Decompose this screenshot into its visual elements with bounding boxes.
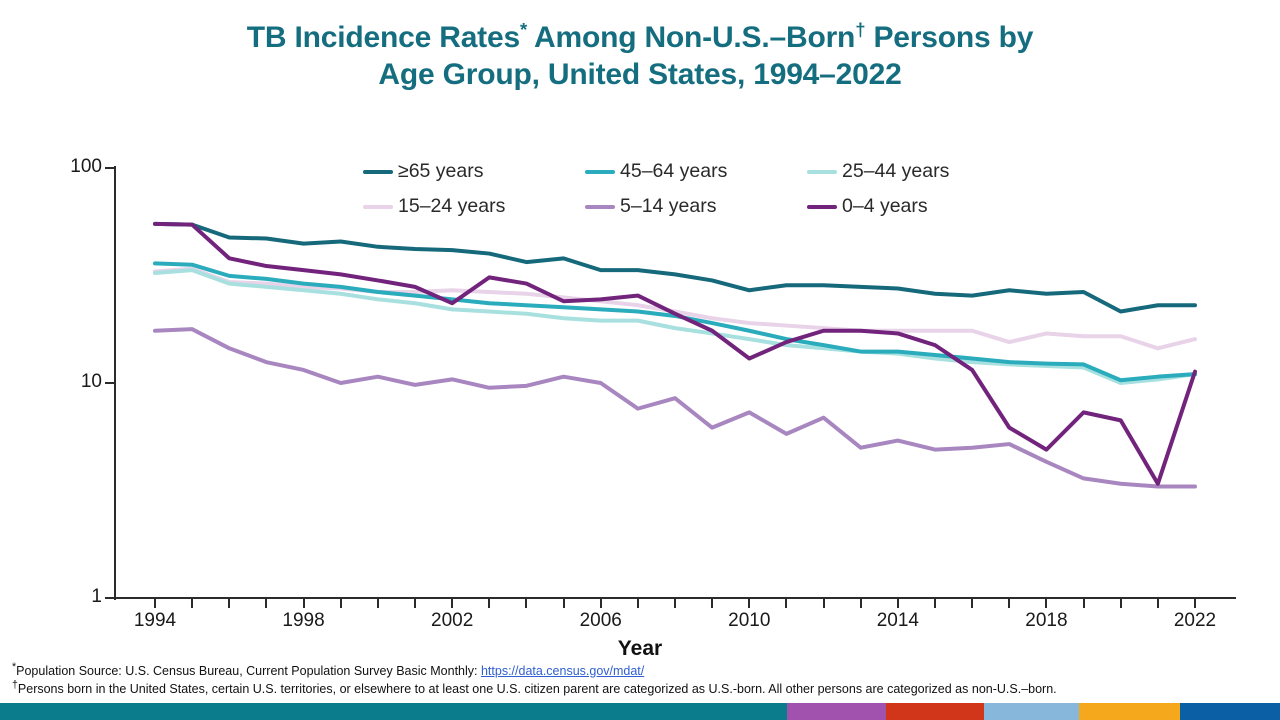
x-axis-tick — [154, 599, 156, 608]
x-axis-tick-label: 1994 — [115, 610, 195, 632]
title-dagger-marker: † — [855, 19, 865, 40]
y-axis-tick — [105, 597, 115, 599]
y-axis-tick — [105, 167, 115, 169]
x-axis-tick — [897, 599, 899, 608]
series-line-2 — [155, 263, 1195, 380]
x-axis-tick — [1120, 599, 1122, 608]
x-axis-tick — [525, 599, 527, 608]
x-axis-tick — [265, 599, 267, 608]
x-axis-tick — [488, 599, 490, 608]
x-axis-tick — [600, 599, 602, 608]
x-axis-title: Year — [0, 637, 1280, 661]
x-axis-tick — [451, 599, 453, 608]
footnote-1-text: Population Source: U.S. Census Bureau, C… — [16, 664, 481, 678]
y-axis-tick-label: 1 — [42, 586, 102, 608]
x-axis-tick — [563, 599, 565, 608]
x-axis-tick — [1045, 599, 1047, 608]
x-axis-tick-label: 2014 — [858, 610, 938, 632]
x-axis-tick — [1157, 599, 1159, 608]
footnotes: *Population Source: U.S. Census Bureau, … — [12, 662, 1272, 698]
x-axis-tick-label: 2022 — [1155, 610, 1235, 632]
page-title: TB Incidence Rates* Among Non-U.S.–Born†… — [0, 20, 1280, 93]
bottom-color-bar — [0, 703, 1280, 720]
title-line-1-mid: Among Non-U.S.–Born — [527, 21, 855, 54]
bottom-bar-segment-5 — [1079, 703, 1181, 720]
x-axis-tick — [823, 599, 825, 608]
x-axis-tick — [748, 599, 750, 608]
x-axis-tick — [674, 599, 676, 608]
x-axis-tick-label: 1998 — [264, 610, 344, 632]
title-asterisk-marker: * — [520, 19, 527, 40]
x-axis-tick-label: 2006 — [561, 610, 641, 632]
bottom-bar-segment-1 — [0, 703, 787, 720]
census-mdat-link[interactable]: https://data.census.gov/mdat/ — [481, 664, 644, 678]
series-line-4 — [155, 269, 1195, 349]
slide-page: TB Incidence Rates* Among Non-U.S.–Born†… — [0, 0, 1280, 720]
x-axis-tick — [971, 599, 973, 608]
x-axis-tick — [377, 599, 379, 608]
footnote-population-source: *Population Source: U.S. Census Bureau, … — [12, 662, 1272, 680]
footnote-2-text: Persons born in the United States, certa… — [18, 682, 1057, 696]
bottom-bar-segment-3 — [886, 703, 985, 720]
footnote-us-born-definition: †Persons born in the United States, cert… — [12, 680, 1272, 698]
x-axis-tick — [191, 599, 193, 608]
y-axis-tick — [105, 382, 115, 384]
series-line-1 — [155, 224, 1195, 312]
title-line-2: Age Group, United States, 1994–2022 — [0, 57, 1280, 94]
x-axis-tick — [228, 599, 230, 608]
chart-container: Cases per 100,000 persons Year 110100199… — [0, 140, 1280, 660]
x-axis-tick — [711, 599, 713, 608]
x-axis-tick — [340, 599, 342, 608]
series-line-5 — [155, 329, 1195, 486]
y-axis-tick-label: 100 — [42, 156, 102, 178]
plot-area — [115, 168, 1235, 598]
x-axis-tick-label: 2018 — [1006, 610, 1086, 632]
x-axis-tick — [303, 599, 305, 608]
series-lines-svg — [115, 168, 1235, 598]
bottom-bar-segment-2 — [787, 703, 886, 720]
title-line-1-post: Persons by — [865, 21, 1033, 54]
y-axis-tick-label: 10 — [42, 371, 102, 393]
series-line-6 — [155, 224, 1195, 484]
x-axis-tick — [1194, 599, 1196, 608]
x-axis-tick — [860, 599, 862, 608]
x-axis-tick-label: 2002 — [412, 610, 492, 632]
x-axis-tick — [414, 599, 416, 608]
x-axis-tick — [785, 599, 787, 608]
x-axis-tick — [934, 599, 936, 608]
x-axis-tick — [637, 599, 639, 608]
bottom-bar-segment-4 — [984, 703, 1078, 720]
x-axis-tick — [1083, 599, 1085, 608]
x-axis-tick — [1008, 599, 1010, 608]
title-line-1: TB Incidence Rates* Among Non-U.S.–Born†… — [0, 20, 1280, 57]
title-line-1-pre: TB Incidence Rates — [247, 21, 520, 54]
bottom-bar-segment-6 — [1180, 703, 1280, 720]
x-axis-tick-label: 2010 — [709, 610, 789, 632]
